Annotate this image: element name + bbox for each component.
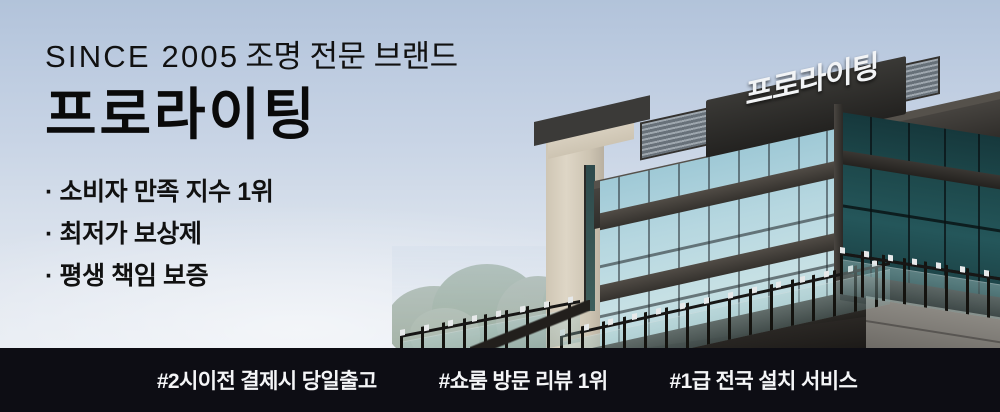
kicker-korean: 조명 전문 브랜드 — [245, 39, 457, 74]
bottom-bar-item[interactable]: #쇼룸 방문 리뷰 1위 — [439, 365, 608, 395]
kicker-line: SINCE 2005조명 전문 브랜드 — [45, 38, 665, 77]
bottom-highlight-bar: #2시이전 결제시 당일출고 #쇼룸 방문 리뷰 1위 #1급 전국 설치 서비… — [0, 348, 1000, 412]
kicker-since: SINCE 2005 — [45, 39, 239, 74]
bottom-bar-item[interactable]: #1급 전국 설치 서비스 — [670, 365, 858, 395]
headline-block: SINCE 2005조명 전문 브랜드 프로라이팅 · 소비자 만족 지수 1위… — [45, 38, 665, 297]
bottom-bar-item[interactable]: #2시이전 결제시 당일출고 — [157, 365, 377, 395]
promo-banner: 프로라이팅 — [0, 0, 1000, 412]
exterior-staircase — [470, 300, 590, 348]
benefit-item: · 최저가 보상제 — [45, 213, 665, 255]
benefit-item: · 평생 책임 보증 — [45, 255, 665, 297]
benefit-list: · 소비자 만족 지수 1위 · 최저가 보상제 · 평생 책임 보증 — [45, 171, 665, 297]
benefit-item: · 소비자 만족 지수 1위 — [45, 171, 665, 213]
brand-title: 프로라이팅 — [45, 85, 665, 145]
